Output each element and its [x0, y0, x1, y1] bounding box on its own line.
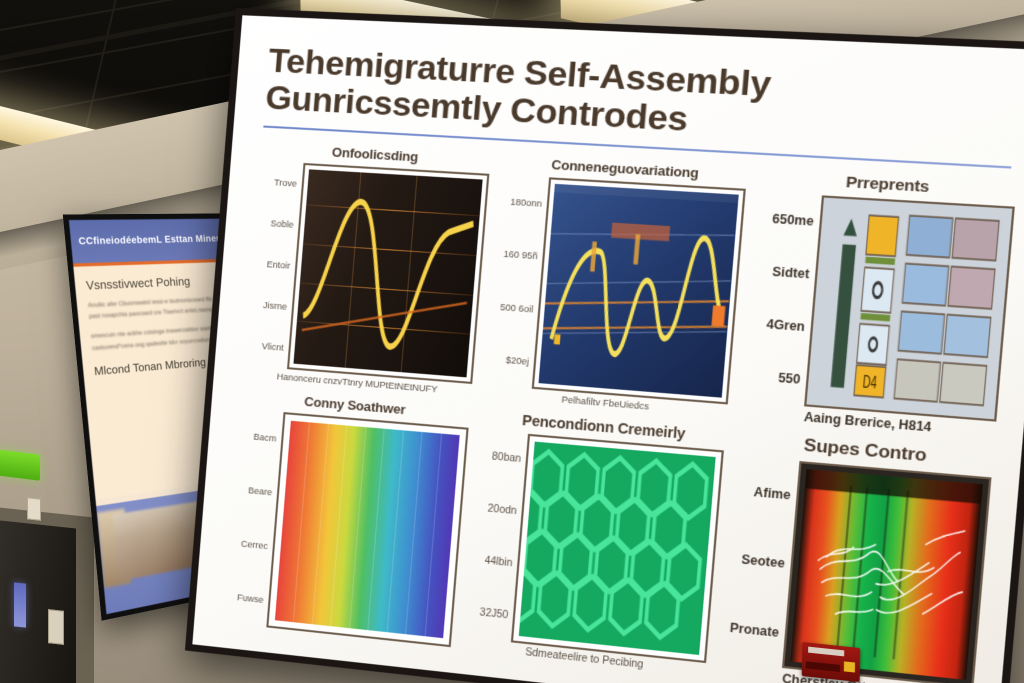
- block-diagram-figure: D4: [813, 204, 1005, 412]
- axis-tick-label: $20ej: [489, 354, 530, 367]
- panel-prreprents[interactable]: Prreprents 650me Sidtet 4Gren 550: [742, 169, 1017, 440]
- panel-pencondionn-cremeirly[interactable]: Pencondionn Cremeirly 80ban 20odn 44lbin…: [465, 409, 725, 678]
- panel-axis-labels: Afime Seotee Pronate: [721, 456, 793, 667]
- axis-tick-label: Entoir: [252, 258, 291, 271]
- hexagonal-lattice-figure: [519, 442, 715, 655]
- axis-tick-label: 550: [745, 368, 801, 387]
- axis-tick-label: Beare: [234, 484, 272, 497]
- panel-conneneguovariationg[interactable]: Conneneguovariationg 180onn 160 95ñ 500 …: [486, 154, 747, 418]
- panel-grid: Onfoolicsding Trove Soble Entoir Jisrne …: [224, 140, 1017, 683]
- wall-plate: [27, 497, 41, 520]
- honeycomb-icon: [519, 442, 715, 655]
- blue-spectral-figure: [539, 184, 738, 398]
- exit-sign: [0, 449, 40, 480]
- conference-room-scene: CCfineiodéebemL Esttan Minerp Vsnsstivwe…: [0, 0, 1024, 683]
- axis-tick-label: Cerrec: [230, 538, 268, 552]
- figure-frame: D4: [804, 195, 1015, 421]
- axis-tick-label: 4Gren: [749, 316, 805, 335]
- axis-tick-label: 180onn: [502, 196, 543, 209]
- rainbow-heatmap-figure: [275, 421, 460, 638]
- main-slide: Tehemigraturre Self-Assembly Gunricssemt…: [192, 15, 1024, 683]
- axis-tick-label: Trove: [259, 176, 298, 188]
- doorway[interactable]: [0, 519, 76, 683]
- oscilloscope-figure: [293, 169, 483, 377]
- panel-body: 80ban 20odn 44lbin 32J50: [466, 430, 723, 663]
- panel-body: Bacm Beare Cerrec Fuwse: [224, 408, 469, 647]
- fire-alarm-pull-station[interactable]: [802, 642, 861, 682]
- waveform-trace-icon: [293, 169, 483, 377]
- axis-tick-label: 80ban: [481, 450, 522, 465]
- panel-body: 650me Sidtet 4Gren 550: [743, 192, 1015, 422]
- axis-tick-label: 500 6oil: [493, 301, 534, 314]
- main-screen-surface: Tehemigraturre Self-Assembly Gunricssemt…: [192, 15, 1024, 683]
- svg-text:D4: D4: [862, 372, 878, 393]
- fire-alarm-handle[interactable]: [806, 661, 840, 672]
- figure-frame: [266, 412, 469, 647]
- figure-frame: [532, 177, 745, 404]
- axis-tick-label: 650me: [758, 211, 815, 229]
- figure-frame: [511, 434, 723, 663]
- block-diagram-icon: D4: [813, 204, 1005, 412]
- axis-tick-label: Pronate: [723, 620, 779, 640]
- figure-frame: [287, 163, 490, 384]
- axis-tick-label: Soble: [255, 217, 294, 229]
- axis-tick-label: 44lbin: [472, 554, 513, 569]
- wall-display-panel[interactable]: [14, 582, 26, 627]
- axis-tick-label: Jisrne: [249, 299, 288, 312]
- secondary-slide-header-title: CCfineiodéebemL Esttan Minerp: [78, 233, 225, 247]
- fire-alarm-indicator: [844, 661, 855, 672]
- panel-onfoolicsding[interactable]: Onfoolicsding Trove Soble Entoir Jisrne …: [243, 140, 491, 397]
- spectral-trace-icon: [539, 184, 738, 398]
- light-switch[interactable]: [48, 609, 64, 645]
- axis-tick-label: Vlicnt: [246, 340, 285, 353]
- axis-tick-label: Seotee: [729, 551, 785, 571]
- axis-tick-label: 32J50: [468, 606, 508, 621]
- axis-tick-label: 20odn: [477, 502, 518, 517]
- panel-axis-labels: 650me Sidtet 4Gren 550: [743, 192, 816, 406]
- axis-tick-label: Sidtet: [753, 263, 809, 281]
- panel-body: Trove Soble Entoir Jisrne Vlicnt: [244, 160, 489, 384]
- axis-tick-label: 160 95ñ: [497, 249, 538, 262]
- panel-supes-contro[interactable]: Supes Contro Afime Seotee Pronate: [720, 430, 994, 683]
- panel-body: 180onn 160 95ñ 500 6oil $20ej: [487, 175, 745, 405]
- main-projection-screen[interactable]: Tehemigraturre Self-Assembly Gunricssemt…: [185, 8, 1024, 683]
- axis-tick-label: Afime: [735, 483, 791, 503]
- panel-conny-soathwer[interactable]: Conny Soathwer Bacm Beare Cerrec Fuwse: [224, 389, 471, 651]
- axis-tick-label: Bacm: [238, 430, 276, 443]
- axis-tick-label: Fuwse: [225, 591, 263, 605]
- fire-alarm-label: [808, 647, 844, 657]
- slide-title: Tehemigraturre Self-Assembly Gunricssemt…: [264, 43, 1019, 157]
